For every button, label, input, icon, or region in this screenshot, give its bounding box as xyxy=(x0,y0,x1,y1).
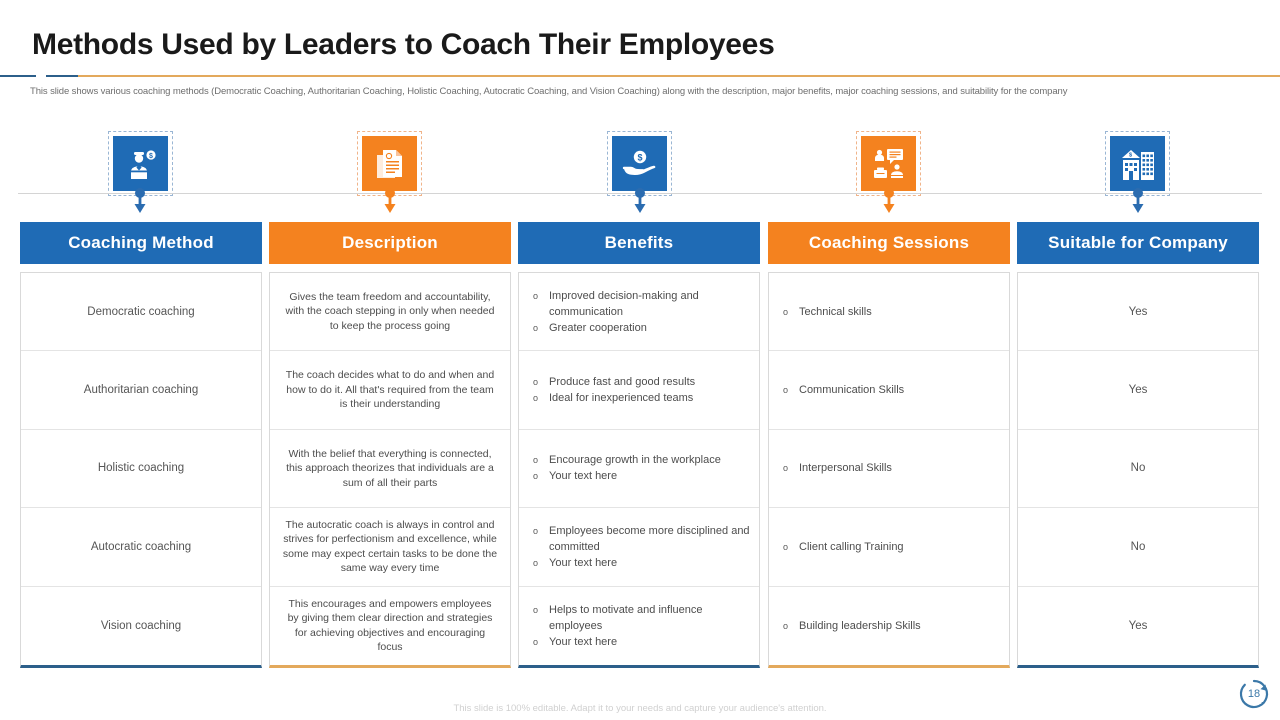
bullet-text: Greater cooperation xyxy=(549,320,647,336)
table-row: oHelps to motivate and influence employe… xyxy=(519,587,759,665)
bullet-circle-icon: o xyxy=(783,539,799,555)
office-building-icon: $ xyxy=(1110,136,1165,191)
table-row: oTechnical skills xyxy=(769,273,1009,351)
bullet-text: Your text here xyxy=(549,634,617,650)
list-item: oEmployees become more disciplined and c… xyxy=(533,523,753,555)
table-row: oBuilding leadership Skills xyxy=(769,587,1009,665)
table-row: Holistic coaching xyxy=(21,430,261,508)
title-divider-gap xyxy=(36,75,46,77)
comparison-table: Coaching Method Democratic coaching Auth… xyxy=(0,222,1280,660)
bullet-text: Ideal for inexperienced teams xyxy=(549,390,693,406)
cell-value: Vision coaching xyxy=(101,618,181,634)
svg-text:$: $ xyxy=(149,153,153,160)
table-row: Democratic coaching xyxy=(21,273,261,351)
column-body-suitable-for-company: Yes Yes No No Yes xyxy=(1017,272,1259,668)
list-item: oYour text here xyxy=(533,555,617,571)
list-item: oYour text here xyxy=(533,468,617,484)
list-item: oHelps to motivate and influence employe… xyxy=(533,602,753,634)
column-coaching-method: Coaching Method Democratic coaching Auth… xyxy=(20,222,262,668)
title-divider-blue-right xyxy=(46,75,78,77)
bullet-circle-icon: o xyxy=(533,602,549,618)
cell-value: The autocratic coach is always in contro… xyxy=(276,518,504,576)
table-row: This encourages and empowers employees b… xyxy=(270,587,510,665)
table-row: Yes xyxy=(1018,587,1258,665)
table-row: Yes xyxy=(1018,273,1258,351)
bullet-circle-icon: o xyxy=(533,634,549,650)
cell-value: Autocratic coaching xyxy=(91,539,191,555)
connector-pin-orange xyxy=(381,188,399,214)
table-row: No xyxy=(1018,508,1258,586)
column-header-coaching-sessions: Coaching Sessions xyxy=(768,222,1010,264)
cell-value: Yes xyxy=(1129,382,1148,398)
column-header-coaching-method: Coaching Method xyxy=(20,222,262,264)
cell-value: No xyxy=(1131,460,1146,476)
cell-value: Authoritarian coaching xyxy=(84,382,198,398)
hand-holding-money-icon: $ xyxy=(612,136,667,191)
table-row: Authoritarian coaching xyxy=(21,351,261,429)
bullet-text: Interpersonal Skills xyxy=(799,460,892,476)
connector-pin-blue xyxy=(131,188,149,214)
cell-value: Yes xyxy=(1129,304,1148,320)
list-item: oEncourage growth in the workplace xyxy=(533,452,721,468)
column-body-description: Gives the team freedom and accountabilit… xyxy=(269,272,511,668)
bullet-circle-icon: o xyxy=(533,288,549,304)
cell-value: The coach decides what to do and when an… xyxy=(276,368,504,412)
cell-value: Democratic coaching xyxy=(87,304,194,320)
column-header-suitable-for-company: Suitable for Company xyxy=(1017,222,1259,264)
document-list-icon xyxy=(362,136,417,191)
bullet-circle-icon: o xyxy=(533,374,549,390)
column-header-description: Description xyxy=(269,222,511,264)
cell-value: With the belief that everything is conne… xyxy=(276,447,504,491)
table-row: oCommunication Skills xyxy=(769,351,1009,429)
connector-pin-blue xyxy=(631,188,649,214)
column-description: Description Gives the team freedom and a… xyxy=(269,222,511,668)
column-benefits: Benefits oImproved decision-making and c… xyxy=(518,222,760,668)
table-row: oEmployees become more disciplined and c… xyxy=(519,508,759,586)
list-item: oTechnical skills xyxy=(783,304,872,320)
bullet-text: Encourage growth in the workplace xyxy=(549,452,721,468)
bullet-circle-icon: o xyxy=(533,452,549,468)
bullet-text: Client calling Training xyxy=(799,539,904,555)
training-session-icon xyxy=(861,136,916,191)
title-divider-blue-left xyxy=(0,75,36,77)
cell-value: Gives the team freedom and accountabilit… xyxy=(276,290,504,334)
bullet-circle-icon: o xyxy=(533,555,549,571)
bullet-text: Your text here xyxy=(549,468,617,484)
column-header-benefits: Benefits xyxy=(518,222,760,264)
icon-row: $ $ xyxy=(0,136,1280,194)
bullet-circle-icon: o xyxy=(533,468,549,484)
table-row: oInterpersonal Skills xyxy=(769,430,1009,508)
page-number: 18 xyxy=(1234,674,1274,714)
table-row: oClient calling Training xyxy=(769,508,1009,586)
table-row: Autocratic coaching xyxy=(21,508,261,586)
title-divider-orange xyxy=(78,75,1280,77)
table-row: oEncourage growth in the workplace oYour… xyxy=(519,430,759,508)
coach-trainer-icon: $ xyxy=(113,136,168,191)
column-suitable-for-company: Suitable for Company Yes Yes No No Yes xyxy=(1017,222,1259,668)
cell-value: No xyxy=(1131,539,1146,555)
table-row: oProduce fast and good results oIdeal fo… xyxy=(519,351,759,429)
list-item: oGreater cooperation xyxy=(533,320,647,336)
bullet-text: Produce fast and good results xyxy=(549,374,695,390)
list-item: oProduce fast and good results xyxy=(533,374,695,390)
bullet-text: Employees become more disciplined and co… xyxy=(549,523,753,555)
page-number-badge: 18 xyxy=(1234,674,1274,714)
column-body-coaching-method: Democratic coaching Authoritarian coachi… xyxy=(20,272,262,668)
table-row: No xyxy=(1018,430,1258,508)
column-body-benefits: oImproved decision-making and communicat… xyxy=(518,272,760,668)
table-row: oImproved decision-making and communicat… xyxy=(519,273,759,351)
column-body-coaching-sessions: oTechnical skills oCommunication Skills … xyxy=(768,272,1010,668)
cell-value: Yes xyxy=(1129,618,1148,634)
list-item: oInterpersonal Skills xyxy=(783,460,892,476)
table-row: The coach decides what to do and when an… xyxy=(270,351,510,429)
bullet-text: Your text here xyxy=(549,555,617,571)
list-item: oCommunication Skills xyxy=(783,382,904,398)
list-item: oBuilding leadership Skills xyxy=(783,618,921,634)
column-coaching-sessions: Coaching Sessions oTechnical skills oCom… xyxy=(768,222,1010,668)
bullet-circle-icon: o xyxy=(783,304,799,320)
bullet-text: Improved decision-making and communicati… xyxy=(549,288,753,320)
list-item: oYour text here xyxy=(533,634,617,650)
table-row: Yes xyxy=(1018,351,1258,429)
connector-pin-orange xyxy=(880,188,898,214)
cell-value: Holistic coaching xyxy=(98,460,184,476)
bullet-text: Building leadership Skills xyxy=(799,618,921,634)
slide-subtitle: This slide shows various coaching method… xyxy=(30,85,1240,99)
bullet-circle-icon: o xyxy=(533,390,549,406)
bullet-text: Helps to motivate and influence employee… xyxy=(549,602,753,634)
table-row: The autocratic coach is always in contro… xyxy=(270,508,510,586)
cell-value: This encourages and empowers employees b… xyxy=(276,597,504,655)
table-row: Gives the team freedom and accountabilit… xyxy=(270,273,510,351)
bullet-text: Communication Skills xyxy=(799,382,904,398)
list-item: oClient calling Training xyxy=(783,539,904,555)
table-row: With the belief that everything is conne… xyxy=(270,430,510,508)
page-title: Methods Used by Leaders to Coach Their E… xyxy=(32,28,774,62)
bullet-circle-icon: o xyxy=(783,382,799,398)
bullet-text: Technical skills xyxy=(799,304,872,320)
list-item: oIdeal for inexperienced teams xyxy=(533,390,693,406)
bullet-circle-icon: o xyxy=(783,460,799,476)
svg-text:$: $ xyxy=(637,152,642,162)
svg-text:$: $ xyxy=(1128,152,1131,158)
connector-pin-blue xyxy=(1129,188,1147,214)
list-item: oImproved decision-making and communicat… xyxy=(533,288,753,320)
footer-note: This slide is 100% editable. Adapt it to… xyxy=(0,703,1280,714)
bullet-circle-icon: o xyxy=(783,618,799,634)
bullet-circle-icon: o xyxy=(533,320,549,336)
bullet-circle-icon: o xyxy=(533,523,549,539)
table-row: Vision coaching xyxy=(21,587,261,665)
title-divider xyxy=(0,75,1280,77)
